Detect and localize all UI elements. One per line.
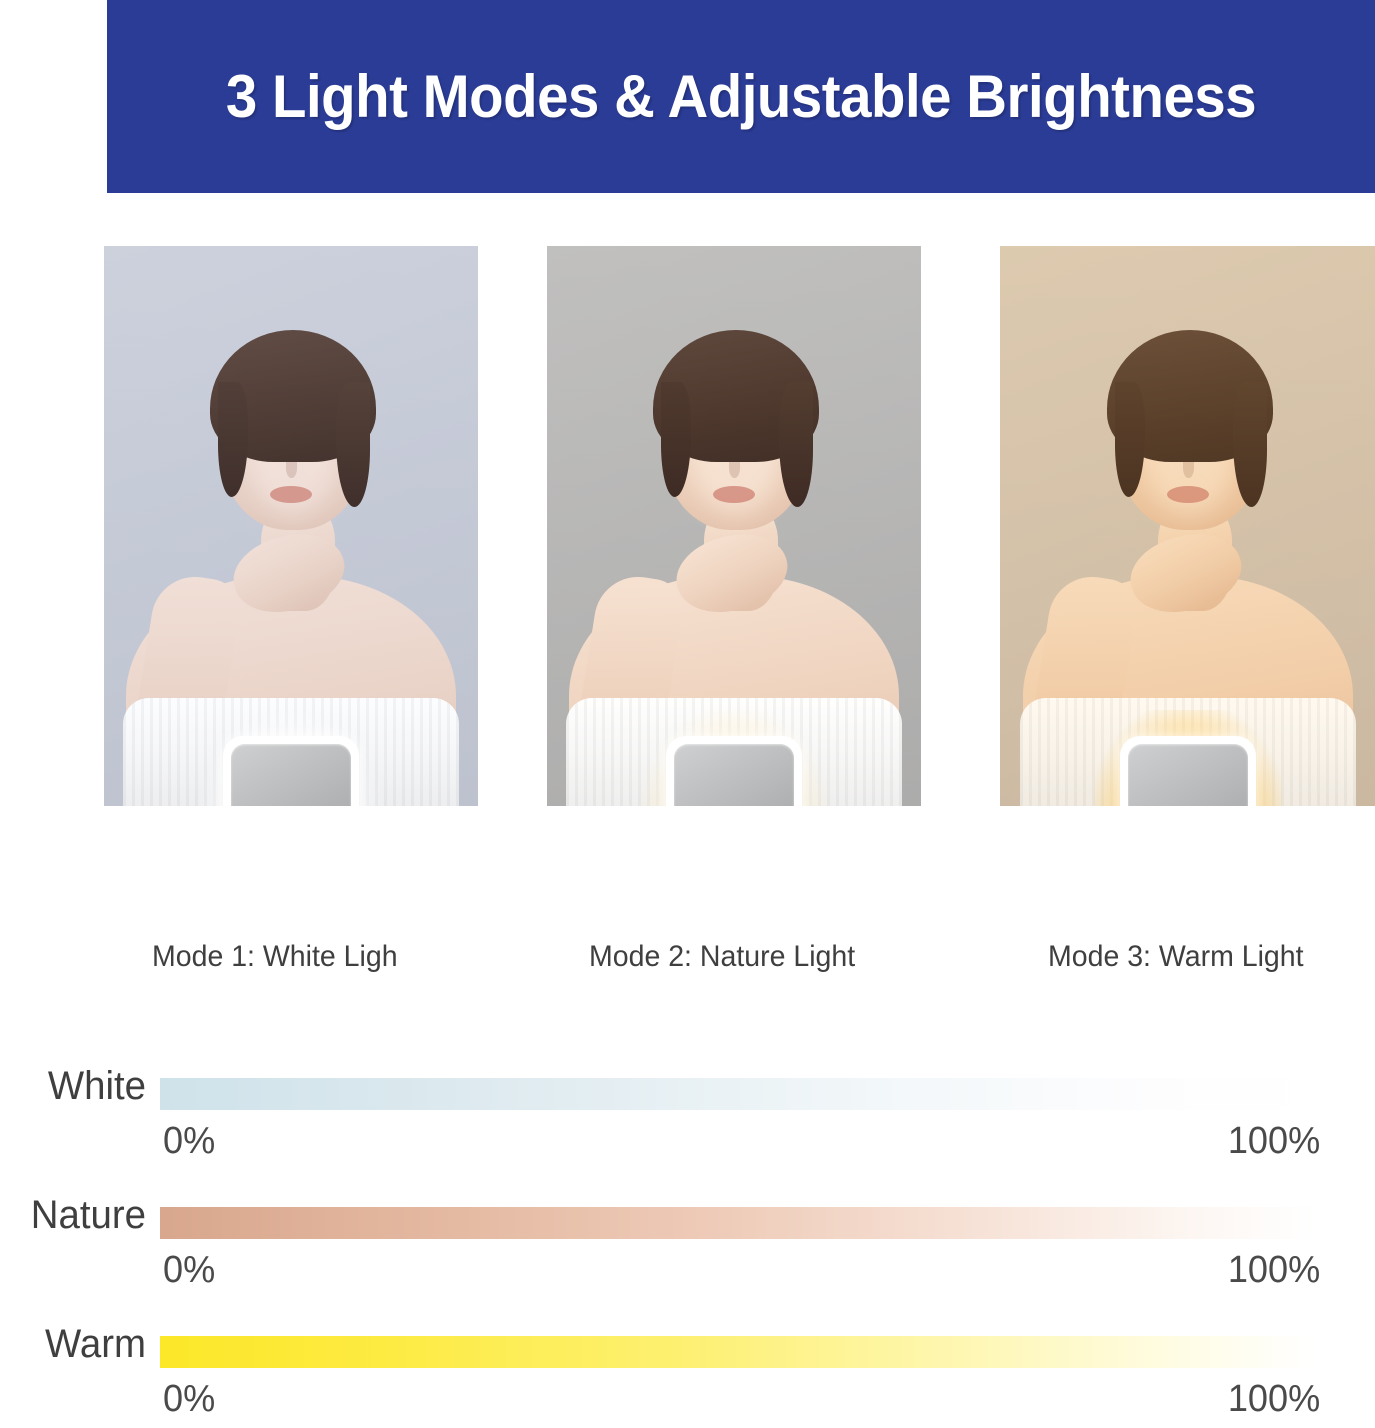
slider-max-label-white: 100% bbox=[1228, 1120, 1320, 1163]
brightness-row-white: White 0% 100% bbox=[0, 1050, 1375, 1170]
slider-max-label-nature: 100% bbox=[1228, 1249, 1320, 1292]
mirror-frame bbox=[223, 736, 359, 806]
header-banner: 3 Light Modes & Adjustable Brightness bbox=[107, 0, 1375, 193]
brightness-slider-section: White 0% 100% Nature 0% 100% Warm 0% 100… bbox=[0, 1050, 1375, 1411]
model-hair bbox=[653, 330, 819, 462]
mode-caption-nature: Mode 2: Nature Light bbox=[589, 940, 855, 974]
model-hair bbox=[1107, 330, 1273, 462]
model-lips bbox=[1167, 486, 1209, 503]
model-lips bbox=[713, 486, 755, 503]
model-lips bbox=[270, 486, 312, 503]
mirror-device-warm bbox=[1120, 736, 1256, 806]
page-title: 3 Light Modes & Adjustable Brightness bbox=[226, 62, 1256, 131]
mode-caption-warm: Mode 3: Warm Light bbox=[1048, 940, 1304, 974]
slider-min-label-white: 0% bbox=[163, 1120, 215, 1163]
model-hair bbox=[210, 330, 376, 462]
mirror-glass bbox=[674, 744, 794, 806]
slider-label-warm: Warm bbox=[6, 1322, 146, 1367]
mirror-device-nature bbox=[666, 736, 802, 806]
slider-label-nature: Nature bbox=[6, 1193, 146, 1238]
mirror-glass bbox=[231, 744, 351, 806]
mode-photo-warm bbox=[1000, 246, 1375, 806]
mode-caption-white: Mode 1: White Ligh bbox=[152, 940, 398, 974]
slider-label-white: White bbox=[6, 1064, 146, 1109]
brightness-slider-warm[interactable] bbox=[160, 1336, 1315, 1368]
mirror-frame bbox=[1120, 736, 1256, 806]
brightness-row-nature: Nature 0% 100% bbox=[0, 1179, 1375, 1299]
brightness-slider-nature[interactable] bbox=[160, 1207, 1315, 1239]
mirror-frame bbox=[666, 736, 802, 806]
brightness-slider-white[interactable] bbox=[160, 1078, 1315, 1110]
slider-max-label-warm: 100% bbox=[1228, 1378, 1320, 1421]
mode-photo-white bbox=[104, 246, 478, 806]
slider-min-label-nature: 0% bbox=[163, 1249, 215, 1292]
brightness-row-warm: Warm 0% 100% bbox=[0, 1308, 1375, 1428]
mirror-glass bbox=[1128, 744, 1248, 806]
slider-min-label-warm: 0% bbox=[163, 1378, 215, 1421]
mirror-device-white bbox=[223, 736, 359, 806]
mode-photo-nature bbox=[547, 246, 921, 806]
light-mode-comparison-row bbox=[0, 246, 1375, 806]
